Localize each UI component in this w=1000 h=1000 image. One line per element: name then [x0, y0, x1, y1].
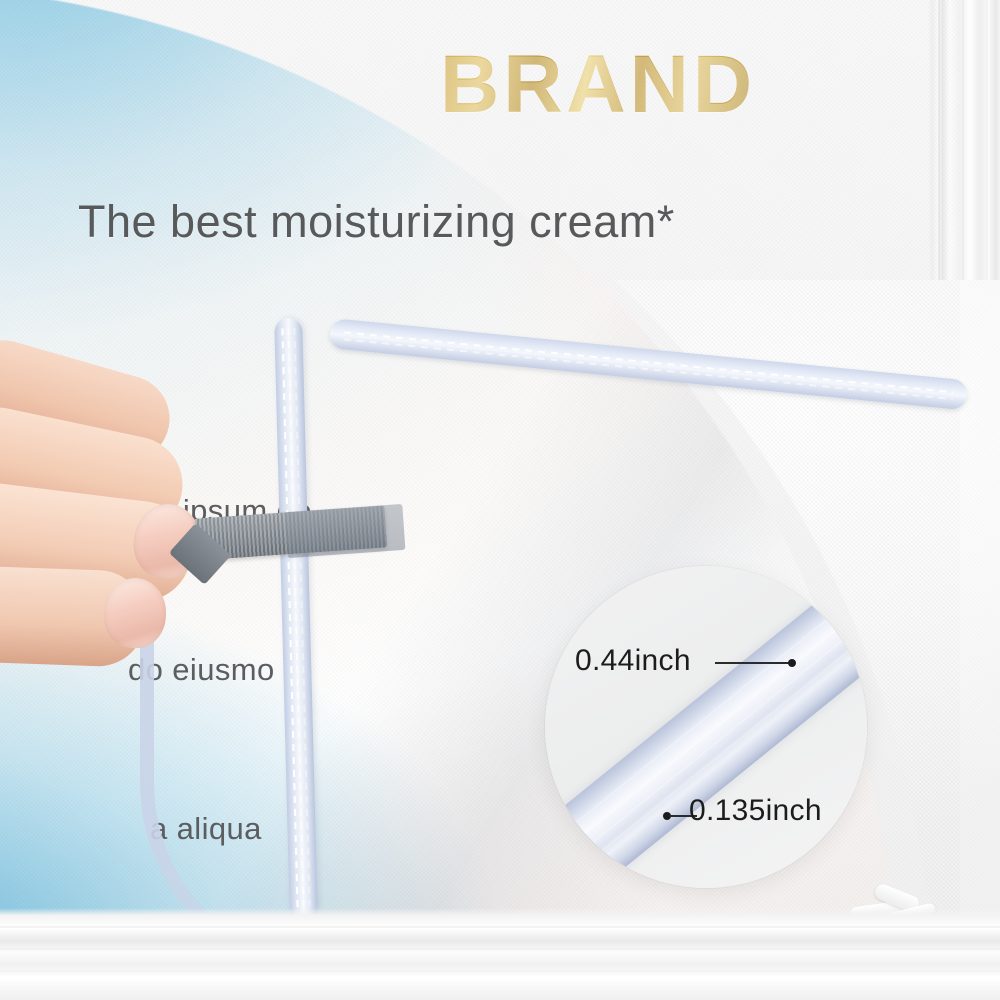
measurement-thickness-label: 0.135inch: [689, 794, 822, 828]
leader-dot-thickness: [663, 812, 671, 820]
product-image-canvas: etur adipiscing elit, labore et dolore q…: [0, 0, 1000, 1000]
leader-line-width: [715, 662, 791, 664]
detail-callout-circle: 0.44inch 0.135inch: [545, 566, 867, 888]
product-tagline: The best moisturizing cream*: [78, 196, 675, 248]
webbing-strap-behind-binding: [285, 504, 406, 558]
brand-title: BRAND: [440, 38, 756, 132]
leader-dot-width: [788, 659, 796, 667]
binding-cross-section: [545, 566, 867, 888]
frame-bottom-strip: [0, 908, 1000, 1000]
measurement-width-label: 0.44inch: [575, 644, 691, 678]
